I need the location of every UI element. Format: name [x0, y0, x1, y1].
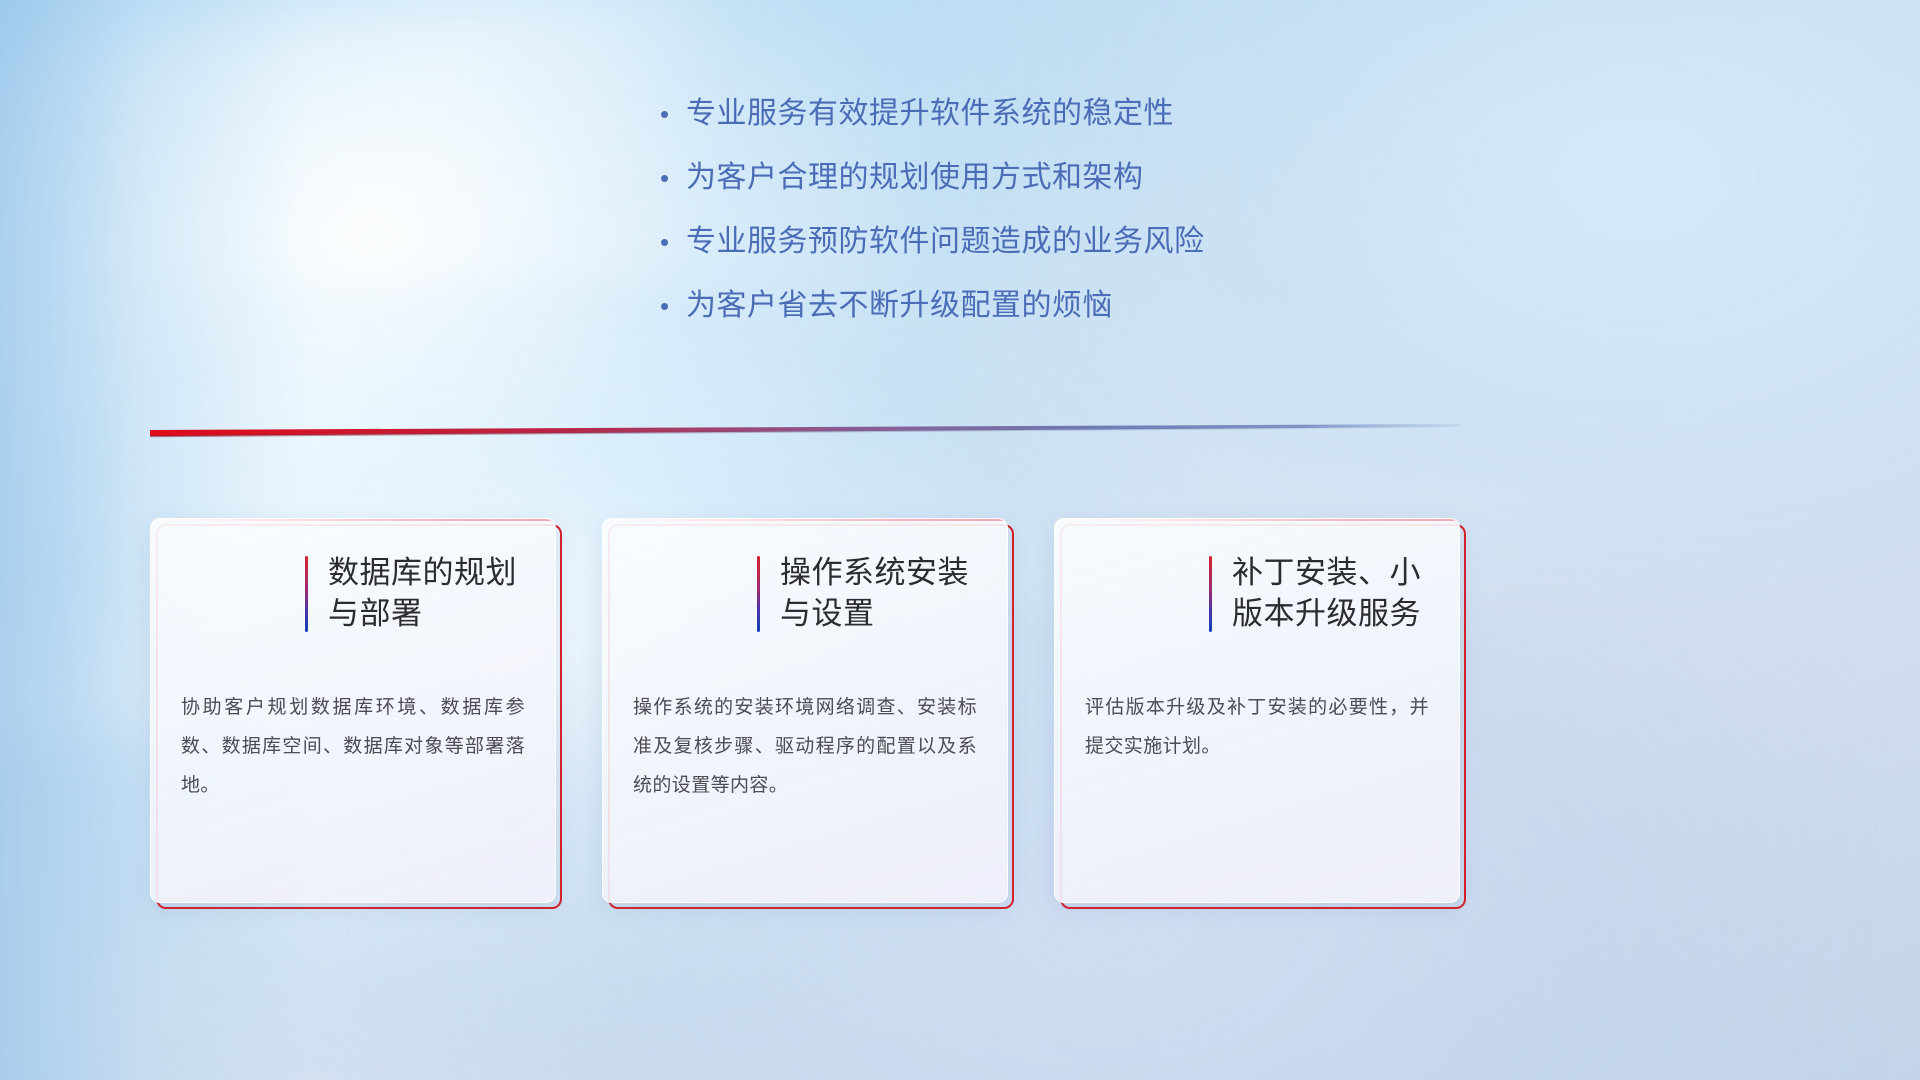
list-item: • 专业服务预防软件问题造成的业务风险 — [660, 224, 1480, 276]
card-title-accent-bar — [305, 556, 308, 632]
service-card-02[interactable]: 02 操作系统安装 与设置 — [602, 518, 1008, 903]
card-title-line-2: 版本升级服务 — [1232, 594, 1437, 635]
service-card-01[interactable]: 01 数据库的规划 与部署 — [150, 518, 556, 903]
card-title: 操作系统安装 与设置 — [780, 553, 985, 635]
card-body-text: 协助客户规划数据库环境、数据库参数、数据库空间、数据库对象等部署落地。 — [181, 689, 525, 806]
card-title-line-2: 与部署 — [328, 594, 533, 635]
list-item: • 为客户省去不断升级配置的烦恼 — [660, 288, 1480, 340]
card-body: 协助客户规划数据库环境、数据库参数、数据库空间、数据库对象等部署落地。 — [151, 669, 555, 806]
benefits-bullet-list: • 专业服务有效提升软件系统的稳定性 • 为客户合理的规划使用方式和架构 • 专… — [660, 96, 1480, 352]
card-body: 评估版本升级及补丁安装的必要性，并提交实施计划。 — [1055, 669, 1459, 767]
striped-number-glyph: 01 — [169, 542, 297, 646]
card-title-line-2: 与设置 — [780, 594, 985, 635]
card-number-01-icon: 01 — [169, 542, 297, 646]
bullet-dot-icon: • — [660, 229, 686, 255]
card-title-line-1: 补丁安装、小 — [1232, 553, 1437, 594]
card-surface: 02 操作系统安装 与设置 — [602, 518, 1008, 903]
card-header: 01 数据库的规划 与部署 — [151, 519, 555, 669]
bullet-dot-icon: • — [660, 101, 686, 127]
section-divider — [150, 418, 1460, 440]
card-title: 补丁安装、小 版本升级服务 — [1232, 553, 1437, 635]
card-header: 02 操作系统安装 与设置 — [603, 519, 1007, 669]
card-title-accent-bar — [1209, 556, 1212, 632]
card-surface: 03 补丁安装、小 版本升级服务 — [1054, 518, 1460, 903]
card-number-03-icon: 03 — [1073, 542, 1201, 646]
service-card-03[interactable]: 03 补丁安装、小 版本升级服务 — [1054, 518, 1460, 903]
section-divider-icon — [150, 418, 1460, 440]
bullet-dot-icon: • — [660, 165, 686, 191]
card-body: 操作系统的安装环境网络调查、安装标准及复核步骤、驱动程序的配置以及系统的设置等内… — [603, 669, 1007, 806]
card-body-text: 操作系统的安装环境网络调查、安装标准及复核步骤、驱动程序的配置以及系统的设置等内… — [633, 689, 977, 806]
striped-number-glyph: 03 — [1073, 542, 1201, 646]
bullet-text: 专业服务有效提升软件系统的稳定性 — [686, 96, 1174, 132]
card-title-line-1: 数据库的规划 — [328, 553, 533, 594]
card-header: 03 补丁安装、小 版本升级服务 — [1055, 519, 1459, 669]
card-body-text: 评估版本升级及补丁安装的必要性，并提交实施计划。 — [1085, 689, 1429, 767]
service-card-list: 01 数据库的规划 与部署 — [150, 518, 1460, 903]
striped-number-glyph: 02 — [621, 542, 749, 646]
bullet-text: 为客户省去不断升级配置的烦恼 — [686, 288, 1113, 324]
card-title-accent-bar — [757, 556, 760, 632]
bullet-dot-icon: • — [660, 293, 686, 319]
card-surface: 01 数据库的规划 与部署 — [150, 518, 556, 903]
bullet-text: 为客户合理的规划使用方式和架构 — [686, 160, 1144, 196]
list-item: • 专业服务有效提升软件系统的稳定性 — [660, 96, 1480, 148]
card-number-02-icon: 02 — [621, 542, 749, 646]
bullet-text: 专业服务预防软件问题造成的业务风险 — [686, 224, 1205, 260]
card-title-line-1: 操作系统安装 — [780, 553, 985, 594]
card-title: 数据库的规划 与部署 — [328, 553, 533, 635]
list-item: • 为客户合理的规划使用方式和架构 — [660, 160, 1480, 212]
